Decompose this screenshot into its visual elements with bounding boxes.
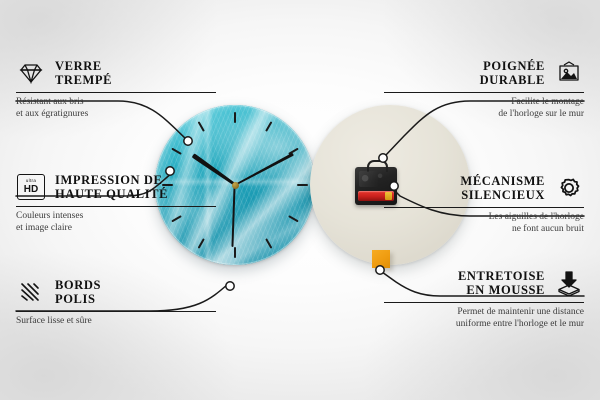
feature-divider [384, 92, 584, 93]
feature-description: Surface lisse et sûre [16, 316, 216, 328]
hour-mark [234, 112, 236, 123]
feature-description: Facilite le montage de l'horloge sur le … [384, 97, 584, 120]
feature-description: Les aiguilles de l'horloge ne font aucun… [384, 212, 584, 235]
ultra-hd-icon: ultra HD [16, 172, 46, 202]
feature-divider [16, 311, 216, 312]
hour-mark [234, 247, 236, 258]
feature-heading: ENTRETOISE EN MOUSSE [384, 268, 584, 298]
badge-large-text: HD [24, 185, 38, 195]
feature-mecanisme-silencieux: MÉCANISME SILENCIEUX Les aiguilles de l'… [384, 173, 584, 235]
feature-heading: BORDS POLIS [16, 277, 216, 307]
feature-verre-trempe: VERRE TREMPÉ Résistant aux bris et aux é… [16, 58, 216, 120]
foam-spacer-icon [554, 268, 584, 298]
connector-dot-bords-polis [226, 282, 234, 290]
infographic-canvas: VERRE TREMPÉ Résistant aux bris et aux é… [0, 0, 600, 400]
feature-title: VERRE TREMPÉ [55, 59, 112, 87]
feature-poignee-durable: POIGNÉE DURABLE Facilite le montage de l… [384, 58, 584, 120]
feature-heading: VERRE TREMPÉ [16, 58, 216, 88]
ultra-hd-badge: ultra HD [17, 174, 45, 200]
feature-entretoise-en-mousse: ENTRETOISE EN MOUSSE Permet de maintenir… [384, 268, 584, 330]
feature-divider [384, 302, 584, 303]
feature-title: POIGNÉE DURABLE [480, 59, 545, 87]
feature-description: Couleurs intenses et image claire [16, 211, 216, 234]
feature-title: IMPRESSION DE HAUTE QUALITÉ [55, 173, 168, 201]
feature-title: MÉCANISME SILENCIEUX [460, 174, 545, 202]
hands-hub [232, 182, 239, 189]
feature-heading: POIGNÉE DURABLE [384, 58, 584, 88]
hour-mark [297, 184, 308, 186]
feature-heading: MÉCANISME SILENCIEUX [384, 173, 584, 203]
feature-description: Résistant aux bris et aux égratignures [16, 97, 216, 120]
feature-heading: ultra HD IMPRESSION DE HAUTE QUALITÉ [16, 172, 216, 202]
diamond-icon [16, 58, 46, 88]
feature-divider [16, 206, 216, 207]
feature-divider [384, 207, 584, 208]
feature-description: Permet de maintenir une distance uniform… [384, 307, 584, 330]
picture-hanger-icon [554, 58, 584, 88]
feature-bords-polis: BORDS POLIS Surface lisse et sûre [16, 277, 216, 328]
feature-title: ENTRETOISE EN MOUSSE [458, 269, 545, 297]
polished-edges-icon [16, 277, 46, 307]
feature-divider [16, 92, 216, 93]
gear-icon [554, 173, 584, 203]
foam-spacer [372, 250, 390, 268]
feature-title: BORDS POLIS [55, 278, 101, 306]
feature-impression-haute-qualite: ultra HD IMPRESSION DE HAUTE QUALITÉ Cou… [16, 172, 216, 234]
